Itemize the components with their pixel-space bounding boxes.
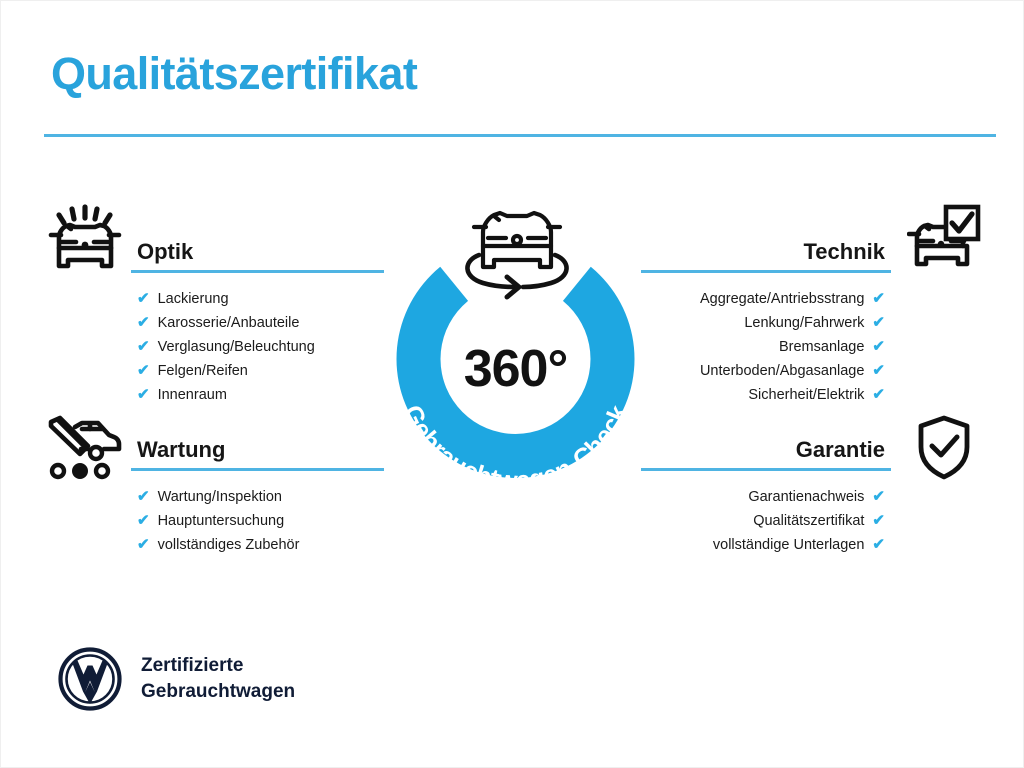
list-item-label: vollständiges Zubehör xyxy=(158,533,300,557)
list-item: Unterboden/Abgasanlage ✔ xyxy=(641,359,885,383)
checklist-optik: ✔ Lackierung ✔ Karosserie/Anbauteile ✔ V… xyxy=(131,287,384,407)
section-title: Optik xyxy=(137,239,193,265)
check-icon: ✔ xyxy=(872,485,885,509)
check-icon: ✔ xyxy=(872,311,885,335)
list-item: ✔ Verglasung/Beleuchtung xyxy=(137,335,384,359)
list-item-label: Karosserie/Anbauteile xyxy=(158,311,300,335)
section-garantie: Garantie Garantienachweis ✔ Qualitätszer… xyxy=(641,427,891,557)
section-header-technik: Technik xyxy=(641,229,891,273)
check-icon: ✔ xyxy=(137,533,150,557)
list-item-label: Innenraum xyxy=(158,383,227,407)
check-icon: ✔ xyxy=(137,335,150,359)
section-header-optik: Optik xyxy=(131,229,384,273)
list-item-label: Lackierung xyxy=(158,287,229,311)
list-item-label: Lenkung/Fahrwerk xyxy=(744,311,864,335)
list-item: Garantienachweis ✔ xyxy=(641,485,885,509)
section-divider xyxy=(641,468,891,471)
list-item-label: Aggregate/Antriebsstrang xyxy=(700,287,864,311)
section-divider xyxy=(641,270,891,273)
list-item-label: Bremsanlage xyxy=(779,335,864,359)
section-header-wartung: Wartung xyxy=(131,427,384,471)
check-icon: ✔ xyxy=(872,287,885,311)
page-title: Qualitätszertifikat xyxy=(51,49,417,99)
car-checkbox-icon xyxy=(907,204,981,281)
car-shine-icon xyxy=(45,204,123,283)
list-item: Sicherheit/Elektrik ✔ xyxy=(641,383,885,407)
check-icon: ✔ xyxy=(137,359,150,383)
section-divider xyxy=(131,270,384,273)
list-item: ✔ Innenraum xyxy=(137,383,384,407)
list-item: Lenkung/Fahrwerk ✔ xyxy=(641,311,885,335)
check-icon: ✔ xyxy=(137,485,150,509)
check-icon: ✔ xyxy=(872,383,885,407)
badge-360-check: Gebrauchtwagen-Check 3 xyxy=(373,191,658,491)
list-item: ✔ Felgen/Reifen xyxy=(137,359,384,383)
checklist-technik: Aggregate/Antriebsstrang ✔ Lenkung/Fahrw… xyxy=(641,287,891,407)
footer-brand-text: Zertifizierte Gebrauchtwagen xyxy=(141,653,295,704)
list-item: Qualitätszertifikat ✔ xyxy=(641,509,885,533)
list-item-label: Garantienachweis xyxy=(748,485,864,509)
car-service-pencil-icon xyxy=(41,415,125,486)
list-item: ✔ Lackierung xyxy=(137,287,384,311)
check-icon: ✔ xyxy=(872,509,885,533)
list-item: ✔ Wartung/Inspektion xyxy=(137,485,384,509)
list-item: Aggregate/Antriebsstrang ✔ xyxy=(641,287,885,311)
check-icon: ✔ xyxy=(872,359,885,383)
list-item-label: Hauptuntersuchung xyxy=(158,509,285,533)
check-icon: ✔ xyxy=(137,509,150,533)
section-title: Wartung xyxy=(137,437,225,463)
list-item-label: vollständige Unterlagen xyxy=(713,533,865,557)
check-icon: ✔ xyxy=(872,533,885,557)
certificate-page: Qualitätszertifikat xyxy=(0,0,1024,768)
shield-check-icon xyxy=(913,415,975,486)
checklist-wartung: ✔ Wartung/Inspektion ✔ Hauptuntersuchung… xyxy=(131,485,384,557)
list-item: ✔ vollständiges Zubehör xyxy=(137,533,384,557)
footer-line-1: Zertifizierte xyxy=(141,653,295,679)
check-icon: ✔ xyxy=(137,311,150,335)
section-header-garantie: Garantie xyxy=(641,427,891,471)
list-item-label: Wartung/Inspektion xyxy=(158,485,282,509)
list-item: ✔ Hauptuntersuchung xyxy=(137,509,384,533)
check-icon: ✔ xyxy=(137,287,150,311)
list-item-label: Felgen/Reifen xyxy=(158,359,248,383)
checklist-garantie: Garantienachweis ✔ Qualitätszertifikat ✔… xyxy=(641,485,891,557)
vw-logo-icon xyxy=(57,646,123,712)
list-item-label: Unterboden/Abgasanlage xyxy=(700,359,864,383)
list-item: Bremsanlage ✔ xyxy=(641,335,885,359)
footer-line-2: Gebrauchtwagen xyxy=(141,679,295,705)
list-item-label: Qualitätszertifikat xyxy=(753,509,864,533)
footer-brand: Zertifizierte Gebrauchtwagen xyxy=(57,646,295,712)
section-divider xyxy=(131,468,384,471)
check-icon: ✔ xyxy=(872,335,885,359)
section-technik: Technik Aggregate/Antriebsstrang ✔ Lenku… xyxy=(641,229,891,407)
list-item: vollständige Unterlagen ✔ xyxy=(641,533,885,557)
section-wartung: Wartung ✔ Wartung/Inspektion ✔ Hauptunte… xyxy=(131,427,384,557)
header-divider xyxy=(44,134,996,137)
section-title: Technik xyxy=(803,239,885,265)
list-item: ✔ Karosserie/Anbauteile xyxy=(137,311,384,335)
section-title: Garantie xyxy=(796,437,885,463)
list-item-label: Verglasung/Beleuchtung xyxy=(158,335,315,359)
check-icon: ✔ xyxy=(137,383,150,407)
badge-degrees-label: 360° xyxy=(373,339,658,399)
section-optik: Optik ✔ Lackierung ✔ Karosserie/Anbautei… xyxy=(131,229,384,407)
list-item-label: Sicherheit/Elektrik xyxy=(748,383,864,407)
